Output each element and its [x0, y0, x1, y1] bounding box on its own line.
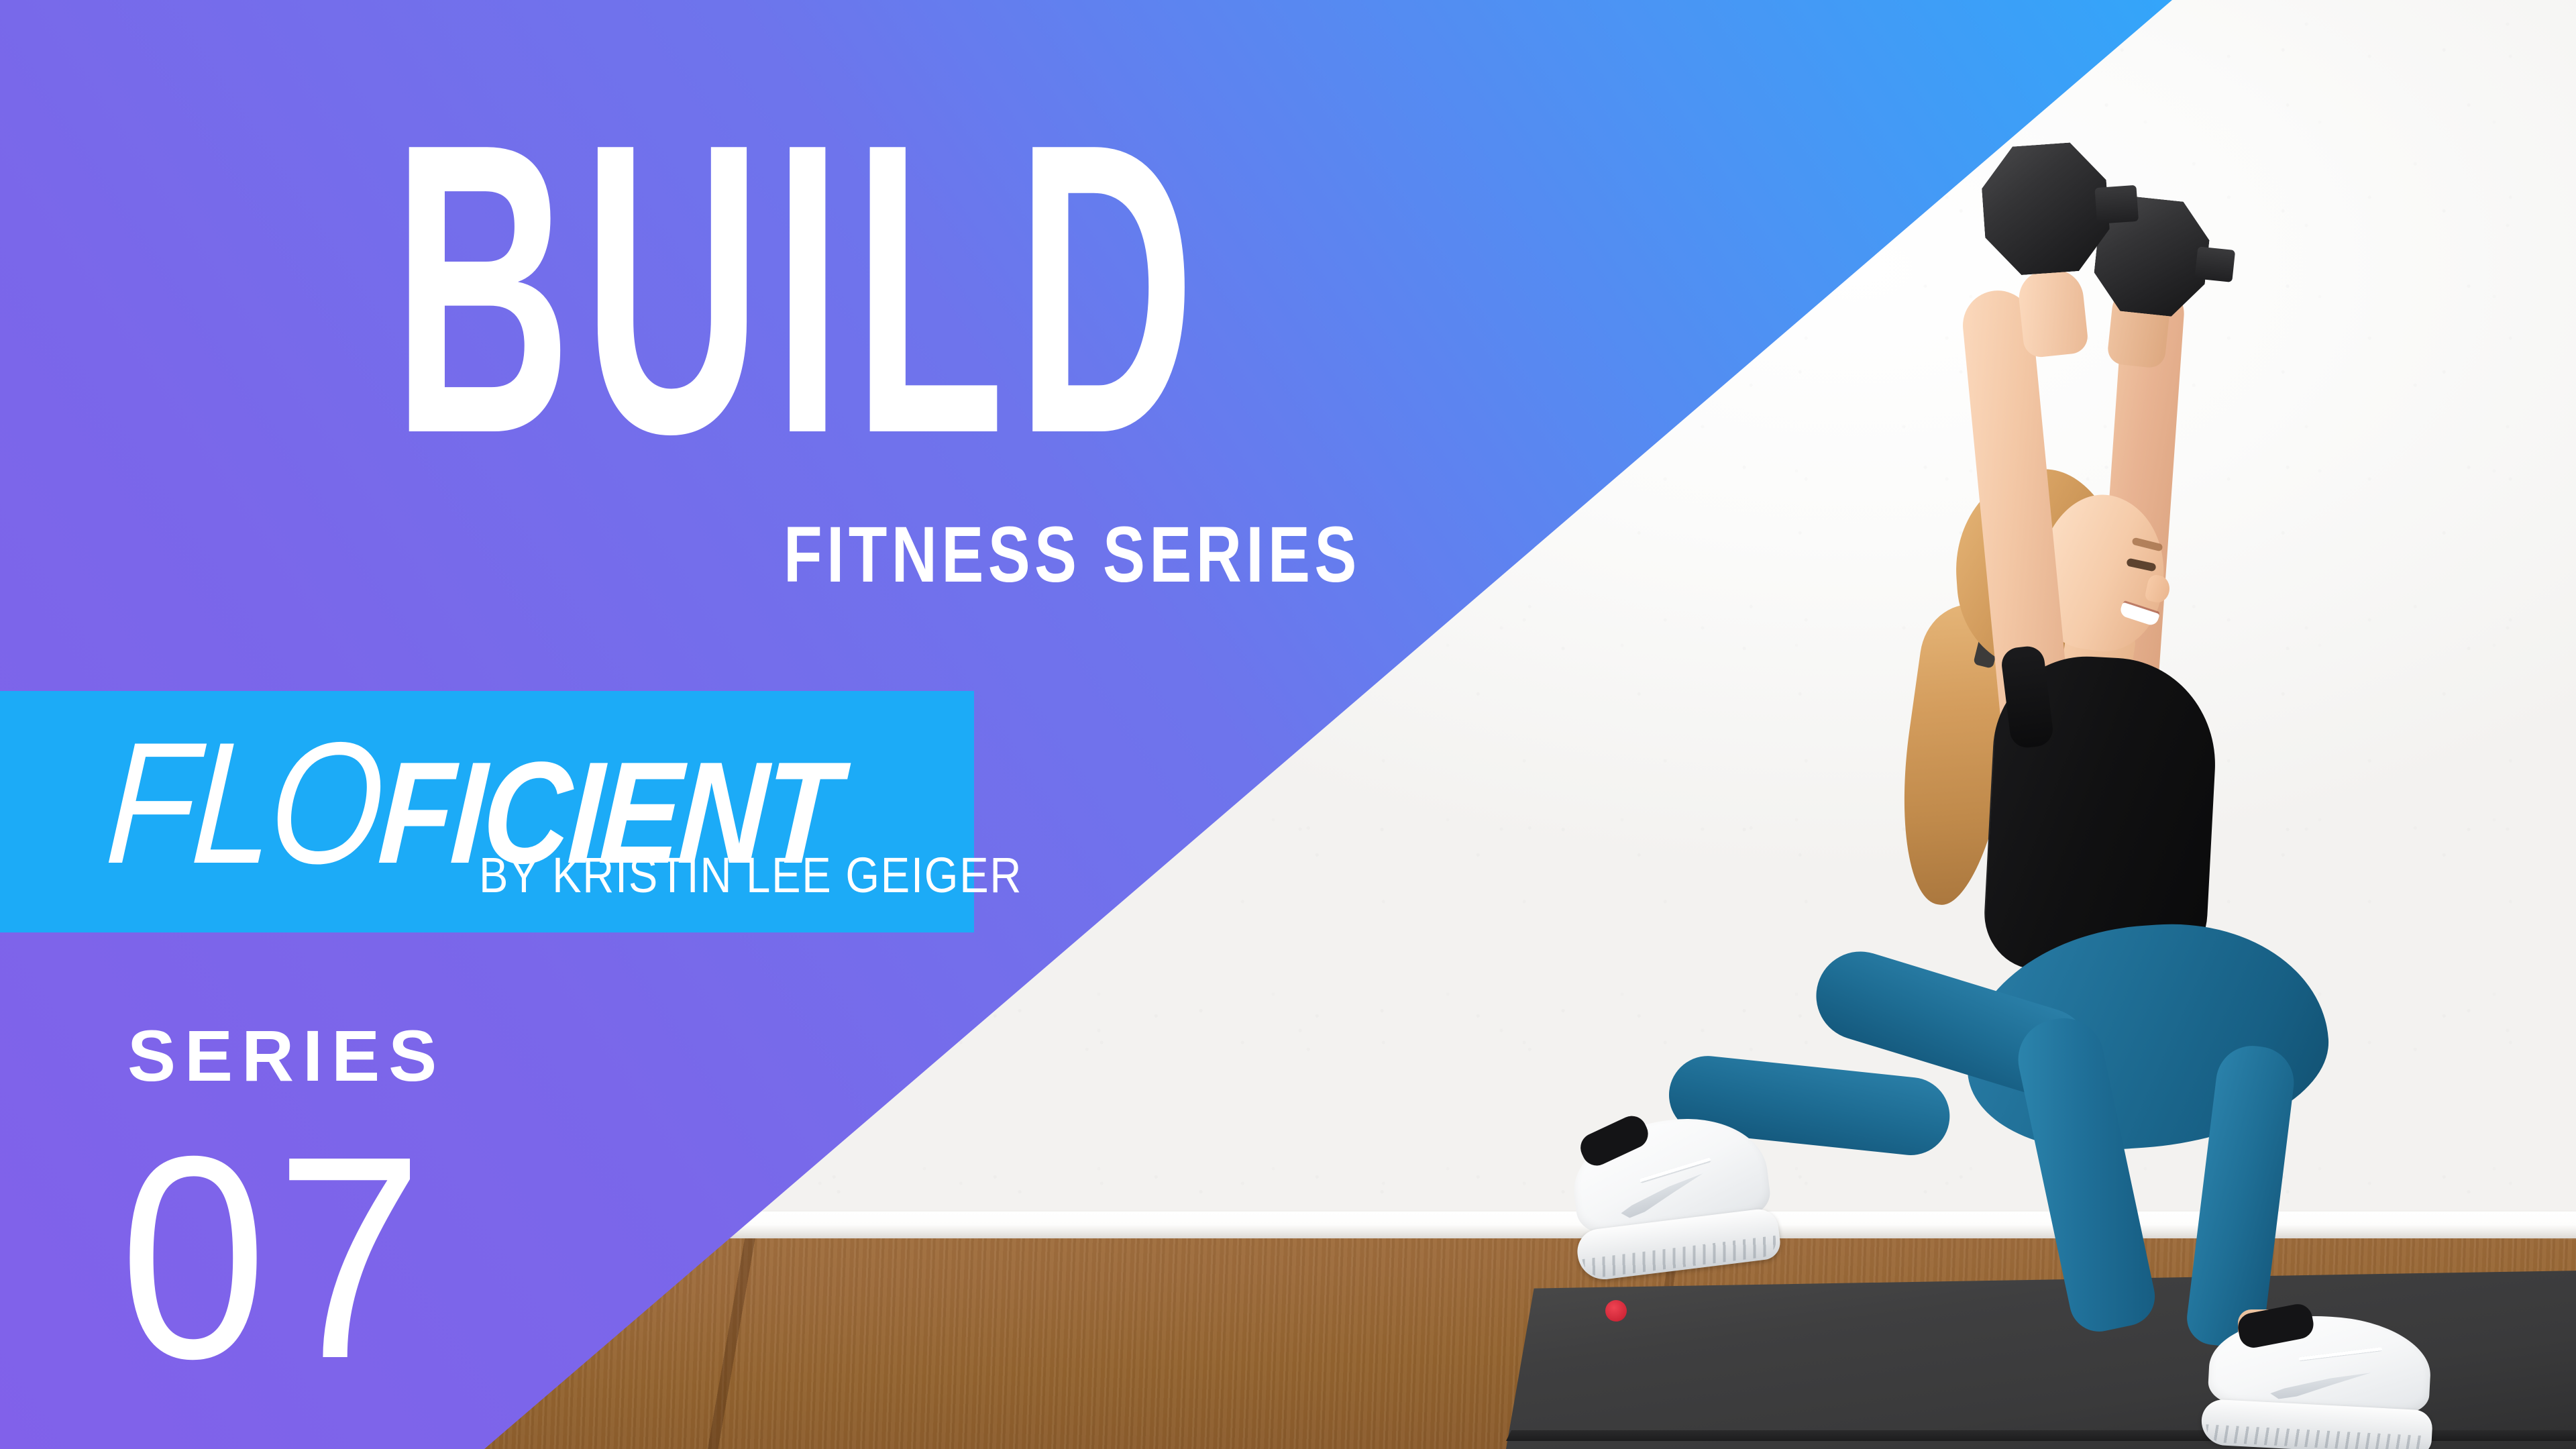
dumbbell-handle [2094, 185, 2139, 224]
series-number: 07 [119, 1114, 432, 1402]
thumbnail-canvas: BUILD FITNESS SERIES FLOFICIENT BY KRIST… [0, 0, 2576, 1449]
hand-near [2017, 266, 2090, 358]
brand-byline: BY KRISTIN LEE GEIGER [479, 851, 1022, 900]
sneaker-front [2205, 1311, 2433, 1449]
dumbbell-hex-icon [1979, 140, 2112, 278]
subtitle: FITNESS SERIES [784, 515, 1361, 594]
sneaker-rear [1566, 1109, 1778, 1282]
series-label: SERIES [127, 1020, 445, 1092]
dumbbell-handle [2194, 246, 2235, 282]
brand-logo-flo: FLO [102, 706, 386, 900]
page-title: BUILD [392, 74, 980, 503]
